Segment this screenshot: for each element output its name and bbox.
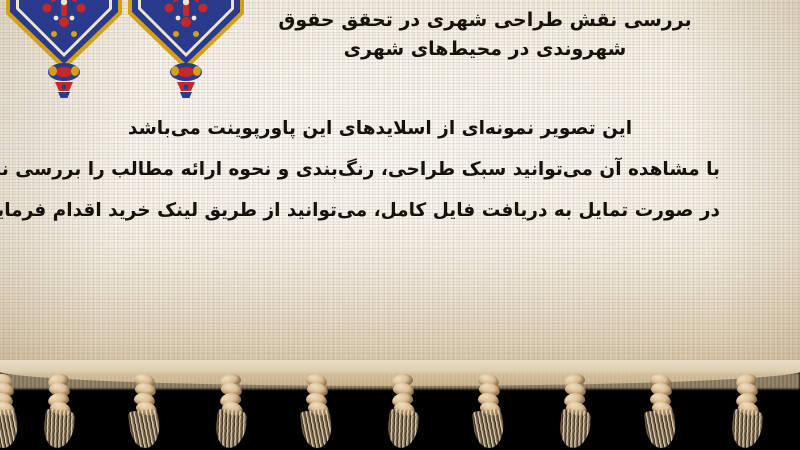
slide-title: بررسی نقش طراحی شهری در تحقق حقوق شهروند… [250,6,720,65]
tassel [472,374,506,448]
tassel [644,374,678,448]
carpet-tassel-fringe [0,360,800,450]
body-line-3: در صورت تمایل به دریافت فایل کامل، می‌تو… [40,190,720,231]
tassel [0,374,20,448]
slide-text-layer: بررسی نقش طراحی شهری در تحقق حقوق شهروند… [0,0,800,372]
tassel [386,374,420,448]
tassel [42,374,76,448]
body-line-1: این تصویر نمونه‌ای از اسلایدهای این پاور… [40,108,720,149]
slide-body: این تصویر نمونه‌ای از اسلایدهای این پاور… [40,108,720,231]
body-line-2: با مشاهده آن می‌توانید سبک طراحی، رنگ‌بن… [40,149,720,190]
tassel [300,374,334,448]
tassel [128,374,162,448]
presentation-slide: بررسی نقش طراحی شهری در تحقق حقوق شهروند… [0,0,800,450]
tassel [558,374,592,448]
tassel [730,374,764,448]
tassel [214,374,248,448]
